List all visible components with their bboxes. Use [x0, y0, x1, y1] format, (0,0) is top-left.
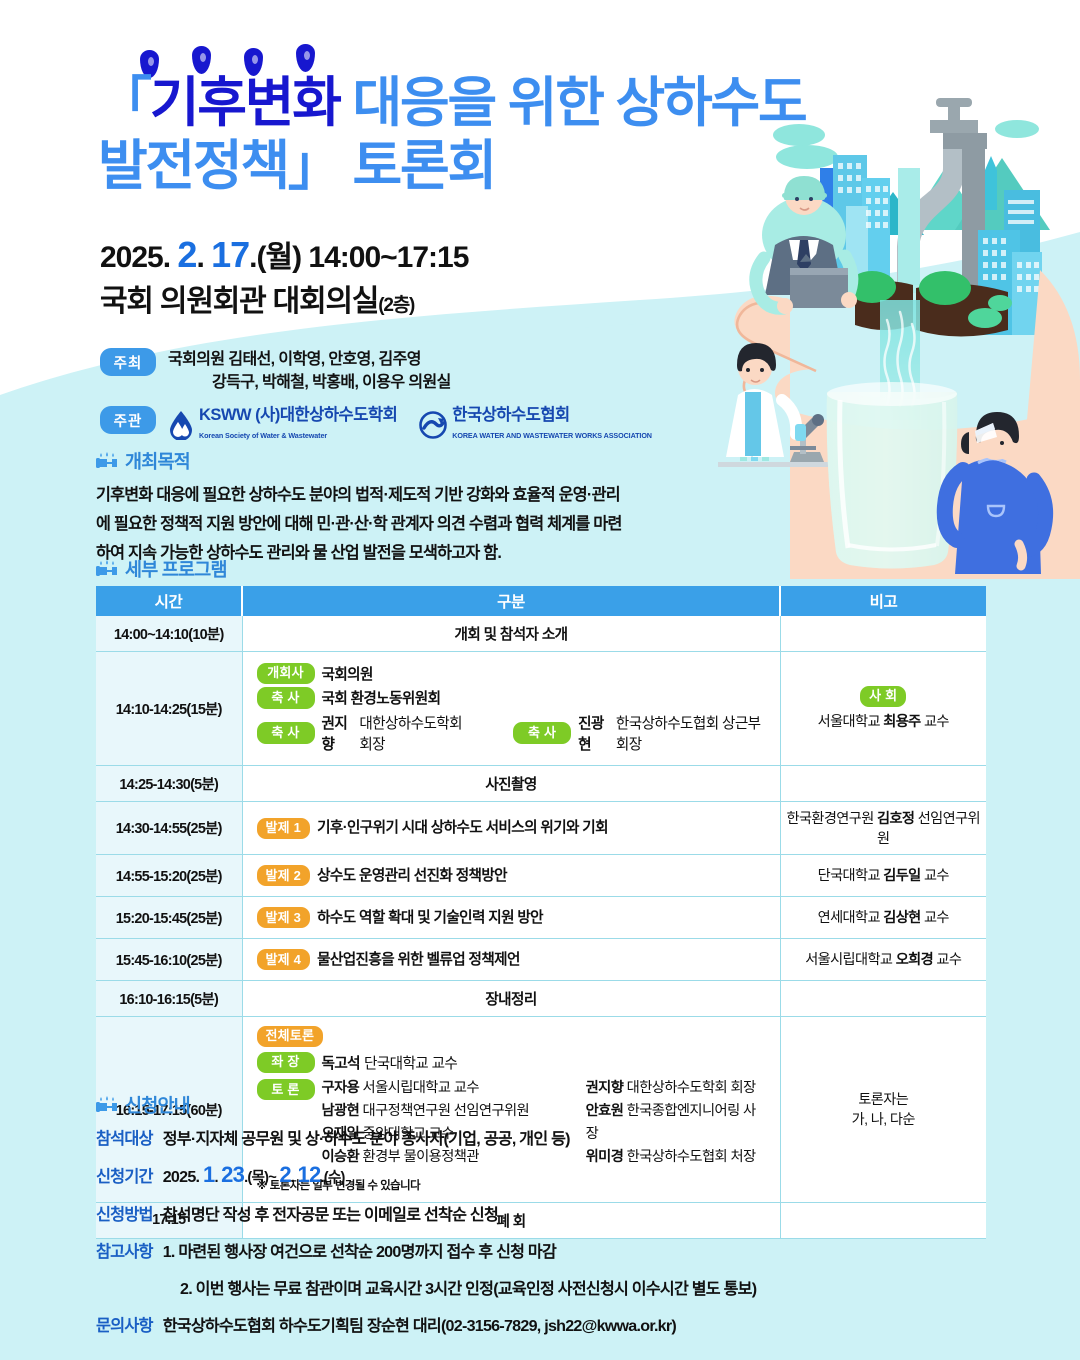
- table-row: 14:30-14:55(25분) 발제 1기후·인구위기 시대 상하수도 서비스…: [96, 801, 986, 854]
- chair-name: 독고석: [322, 1052, 360, 1073]
- period-month-end: 2: [279, 1162, 291, 1187]
- application-info-section: 신청안내 참석대상 정부·지자체 공무원 및 상·하수도 분야 종사자(기업, …: [96, 1092, 896, 1349]
- col-header-note: 비고: [780, 586, 986, 616]
- faucet-icon: [96, 560, 118, 579]
- period-year: 2025.: [163, 1168, 203, 1186]
- table-header-row: 시간 구분 비고: [96, 586, 986, 616]
- apply-notes-row: 참고사항 1. 마련된 행사장 여건으로 선착순 200명까지 접수 후 신청 …: [96, 1238, 896, 1262]
- page-title: 「기후변화 대응을 위한 상하수도 발전정책」 토론회: [98, 72, 898, 197]
- row-note: 서울시립대학교 오희경 교수: [780, 938, 986, 980]
- row-content: 발제 1기후·인구위기 시대 상하수도 서비스의 위기와 기회: [242, 801, 780, 854]
- event-datetime: 2025. 2. 17.(월) 14:00~17:15: [100, 232, 468, 276]
- badge-presentation-4: 발제 4: [257, 949, 311, 970]
- purpose-body: 기후변화 대응에 필요한 상하수도 분야의 법적·제도적 기반 강화와 효율적 …: [96, 481, 856, 567]
- presenter-title-2: 교수: [921, 868, 949, 884]
- kwwa-logo: 한국상하수도협회 KOREA WATER AND WASTEWATER WORK…: [419, 407, 652, 442]
- period-suffix: .(수): [320, 1170, 344, 1186]
- apply-period-row: 신청기간 2025. 1. 23.(목)~ 2. 12.(수): [96, 1162, 896, 1188]
- row-note: [780, 765, 986, 801]
- row-note: [780, 616, 986, 652]
- badge-full-discussion: 전체토론: [257, 1026, 324, 1047]
- period-day-end: 12: [297, 1162, 320, 1187]
- row-content: 발제 4물산업진흥을 위한 벨류업 정책제언: [242, 938, 780, 980]
- event-venue: 국회 의원회관 대회의실(2층): [100, 276, 414, 320]
- faucet-icon: [96, 452, 118, 471]
- kwwa-logo-sub: KOREA WATER AND WASTEWATER WORKS ASSOCIA…: [452, 431, 652, 440]
- apply-method-value: 참석명단 작성 후 전자공문 또는 이메일로 선착순 신청: [163, 1201, 498, 1225]
- presenter-title-4: 교수: [933, 952, 961, 968]
- chair-desc: 단국대학교 교수: [364, 1052, 457, 1073]
- ksww-logo-main: KSWW (사)대한상하수도학회: [199, 406, 397, 424]
- presenter-org-2: 단국대학교: [818, 868, 884, 884]
- row-time: 14:25-14:30(5분): [96, 765, 242, 801]
- host-organizer-block: 주최 국회의원 김태선, 이학영, 안호영, 김주영 강득구, 박해철, 박홍배…: [100, 348, 740, 451]
- row-content: 개회사 국회의원 축 사 국회 환경노동위원회 축 사 권지향 대한상하수도학회…: [242, 652, 780, 766]
- moderator-title: 교수: [921, 714, 949, 730]
- congrats-name-2: 권지향: [322, 712, 356, 754]
- title-line2: 발전정책」 토론회: [98, 135, 898, 198]
- program-heading-row: 세부 프로그램: [96, 556, 227, 582]
- apply-contact-row: 문의사항 한국상하수도협회 하수도기획팀 장순현 대리(02-3156-7829…: [96, 1312, 896, 1336]
- date-year: 2025.: [100, 241, 177, 274]
- presenter-org-1: 한국환경연구원: [787, 811, 878, 827]
- apply-heading: 신청안내: [125, 1092, 190, 1118]
- kwwa-circle-icon: [419, 411, 447, 439]
- congrats-desc-2: 대한상하수도학회 회장: [359, 712, 475, 754]
- badge-congratulatory-1: 축 사: [257, 687, 315, 708]
- apply-contact-label: 문의사항: [96, 1312, 153, 1336]
- purpose-line-1: 기후변화 대응에 필요한 상하수도 분야의 법적·제도적 기반 강화와 효율적 …: [96, 481, 856, 510]
- row-note: 사 회 서울대학교 최용주 교수: [780, 652, 986, 766]
- purpose-heading-row: 개최목적: [96, 448, 856, 474]
- apply-note-2: 2. 이번 행사는 무료 참관이며 교육시간 3시간 인정(교육인정 사전신청시…: [96, 1275, 896, 1299]
- kwwa-logo-main: 한국상하수도협회: [452, 406, 569, 424]
- program-heading: 세부 프로그램: [125, 556, 227, 582]
- table-row: 15:45-16:10(25분) 발제 4물산업진흥을 위한 벨류업 정책제언 …: [96, 938, 986, 980]
- badge-presentation-3: 발제 3: [257, 907, 311, 928]
- table-row: 16:10-16:15(5분) 장내정리: [96, 980, 986, 1016]
- presenter-name-3: 김상현: [883, 910, 920, 926]
- apply-contact-value: 한국상하수도협회 하수도기획팀 장순현 대리(02-3156-7829, jsh…: [163, 1312, 676, 1336]
- moderator-org: 서울대학교: [818, 714, 884, 730]
- program-section-heading: 세부 프로그램: [96, 556, 227, 589]
- apply-heading-row: 신청안내: [96, 1092, 896, 1118]
- congrats-desc-1: 국회 환경노동위원회: [322, 687, 441, 708]
- row-content: 개회 및 참석자 소개: [242, 616, 780, 652]
- presenter-name-2: 김두일: [883, 868, 920, 884]
- badge-chair: 좌 장: [257, 1052, 315, 1073]
- badge-congratulatory-2: 축 사: [257, 722, 315, 743]
- presentation-title-3: 하수도 역할 확대 및 기술인력 지원 방안: [317, 910, 543, 926]
- moderator-name: 최용주: [883, 714, 920, 730]
- date-time: .(월) 14:00~17:15: [249, 241, 468, 274]
- apply-target-row: 참석대상 정부·지자체 공무원 및 상·하수도 분야 종사자(기업, 공공, 개…: [96, 1125, 896, 1149]
- presentation-title-4: 물산업진흥을 위한 벨류업 정책제언: [317, 952, 520, 968]
- row-content: 발제 3하수도 역할 확대 및 기술인력 지원 방안: [242, 896, 780, 938]
- table-row: 14:00~14:10(10분) 개회 및 참석자 소개: [96, 616, 986, 652]
- presenter-org-4: 서울시립대학교: [805, 952, 896, 968]
- apply-period-label: 신청기간: [96, 1163, 153, 1187]
- poster-header: 「기후변화 대응을 위한 상하수도 발전정책」 토론회 2025. 2. 17.…: [0, 0, 1080, 330]
- row-content: 발제 2상수도 운영관리 선진화 정책방안: [242, 854, 780, 896]
- table-row: 14:25-14:30(5분) 사진촬영: [96, 765, 986, 801]
- presentation-title-1: 기후·인구위기 시대 상하수도 서비스의 위기와 기회: [317, 820, 608, 836]
- date-month: 2: [177, 234, 196, 275]
- purpose-section: 개최목적 기후변화 대응에 필요한 상하수도 분야의 법적·제도적 기반 강화와…: [96, 448, 856, 567]
- host-line-1: 국회의원 김태선, 이학영, 안호영, 김주영: [168, 351, 421, 368]
- purpose-line-2: 에 필요한 정책적 지원 방안에 대해 민·관·산·학 관계자 의견 수렴과 협…: [96, 510, 856, 539]
- host-pill-label: 주최: [100, 348, 156, 376]
- organizer-logos: KSWW (사)대한상하수도학회 Korean Society of Water…: [168, 406, 652, 442]
- apply-target-label: 참석대상: [96, 1125, 153, 1149]
- row-note: 연세대학교 김상현 교수: [780, 896, 986, 938]
- date-day: 17: [211, 234, 249, 275]
- apply-method-label: 신청방법: [96, 1201, 153, 1225]
- ksww-logo: KSWW (사)대한상하수도학회 Korean Society of Water…: [168, 407, 397, 442]
- congrats-line-2: 축 사 권지향 대한상하수도학회 회장 축 사 진광현 한국상하수도협회 상근부…: [257, 712, 766, 754]
- row-content: 사진촬영: [242, 765, 780, 801]
- row-time: 14:10-14:25(15분): [96, 652, 242, 766]
- host-line-2: 강득구, 박해철, 박홍배, 이용우 의원실: [168, 371, 451, 394]
- table-row: 14:10-14:25(15분) 개회사 국회의원 축 사 국회 환경노동위원회…: [96, 652, 986, 766]
- row-time: 15:20-15:45(25분): [96, 896, 242, 938]
- apply-note-1: 1. 마련된 행사장 여건으로 선착순 200명까지 접수 후 신청 마감: [163, 1238, 556, 1262]
- title-line1-rest: 대응을 위한 상하수도: [340, 73, 806, 133]
- host-names: 국회의원 김태선, 이학영, 안호영, 김주영 강득구, 박해철, 박홍배, 이…: [168, 348, 451, 394]
- badge-moderator: 사 회: [860, 686, 906, 707]
- presentation-title-2: 상수도 운영관리 선진화 정책방안: [317, 868, 507, 884]
- row-time: 14:30-14:55(25분): [96, 801, 242, 854]
- chair-line: 좌 장 독고석 단국대학교 교수: [257, 1052, 766, 1073]
- apply-method-row: 신청방법 참석명단 작성 후 전자공문 또는 이메일로 선착순 신청: [96, 1201, 896, 1225]
- venue-name: 국회 의원회관 대회의실: [100, 285, 378, 318]
- row-note: 단국대학교 김두일 교수: [780, 854, 986, 896]
- apply-target-value: 정부·지자체 공무원 및 상·하수도 분야 종사자(기업, 공공, 개인 등): [163, 1125, 570, 1149]
- faucet-icon: [96, 1096, 118, 1115]
- organizer-row: 주관 KSWW (사)대한상하수도학회 Korean Society of Wa…: [100, 406, 740, 442]
- table-row: 15:20-15:45(25분) 발제 3하수도 역할 확대 및 기술인력 지원…: [96, 896, 986, 938]
- presenter-title-3: 교수: [921, 910, 949, 926]
- congrats-name-3: 진광현: [578, 712, 612, 754]
- row-time: 16:10-16:15(5분): [96, 980, 242, 1016]
- badge-presentation-1: 발제 1: [257, 818, 311, 839]
- presenter-name-1: 김호정: [877, 811, 914, 827]
- congrats-desc-3: 한국상하수도협회 상근부회장: [616, 712, 766, 754]
- ksww-logo-sub: Korean Society of Water & Wastewater: [199, 431, 327, 440]
- apply-period-value: 2025. 1. 23.(목)~ 2. 12.(수): [163, 1162, 345, 1188]
- row-note: [780, 980, 986, 1016]
- period-month-start: 1: [203, 1162, 215, 1187]
- row-content: 장내정리: [242, 980, 780, 1016]
- badge-congratulatory-3: 축 사: [513, 722, 571, 743]
- host-row: 주최 국회의원 김태선, 이학영, 안호영, 김주영 강득구, 박해철, 박홍배…: [100, 348, 740, 394]
- col-header-division: 구분: [242, 586, 780, 616]
- title-emphasis: 기후변화: [150, 73, 340, 133]
- row-time: 15:45-16:10(25분): [96, 938, 242, 980]
- period-mid: .(목)~: [244, 1170, 279, 1186]
- row-time: 14:55-15:20(25분): [96, 854, 242, 896]
- opening-desc: 국회의원: [322, 663, 373, 684]
- presenter-org-3: 연세대학교: [818, 910, 884, 926]
- period-day-start: 23: [221, 1162, 244, 1187]
- row-note: 한국환경연구원 김호정 선임연구위원: [780, 801, 986, 854]
- congrats-line-1: 축 사 국회 환경노동위원회: [257, 687, 766, 708]
- table-row: 14:55-15:20(25분) 발제 2상수도 운영관리 선진화 정책방안 단…: [96, 854, 986, 896]
- presenter-name-4: 오희경: [896, 952, 933, 968]
- venue-floor: (2층): [378, 295, 414, 316]
- badge-presentation-2: 발제 2: [257, 865, 311, 886]
- water-drop-icon: [168, 410, 194, 440]
- date-dot: .: [196, 241, 211, 274]
- purpose-heading: 개최목적: [125, 448, 190, 474]
- badge-opening-address: 개회사: [257, 663, 315, 684]
- col-header-time: 시간: [96, 586, 242, 616]
- apply-notes-label: 참고사항: [96, 1238, 153, 1262]
- organizer-pill-label: 주관: [100, 406, 156, 434]
- row-time: 14:00~14:10(10분): [96, 616, 242, 652]
- title-bracket-open: 「: [98, 73, 150, 133]
- opening-line: 개회사 국회의원: [257, 663, 766, 684]
